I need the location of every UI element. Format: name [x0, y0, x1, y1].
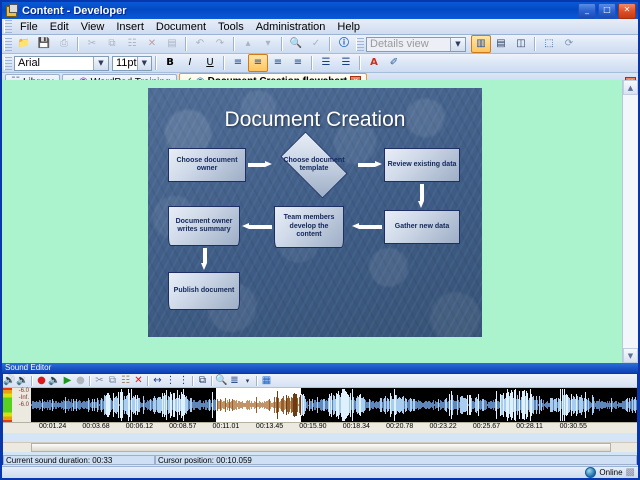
sound-editor-panel: Sound Editor 🔊 🔉 ● 🔈 ▶ ● ✂ ⧉ ☷ ✕ ↔ ⋮ ⋮ — [2, 363, 638, 465]
effects-icon[interactable]: ▦ — [260, 375, 273, 387]
window-title: Content - Developer — [22, 5, 578, 17]
toolbar-separator — [534, 37, 536, 51]
font-color-icon[interactable]: A — [364, 54, 384, 72]
node-label: Choose document owner — [171, 157, 243, 174]
save-icon[interactable]: 💾 — [34, 35, 54, 53]
split-icon[interactable]: ⋮ — [164, 375, 177, 387]
cursor-position-field: Cursor position: 00:10.059 — [155, 455, 637, 465]
marker-icon[interactable]: ⋮ — [177, 375, 190, 387]
italic-button[interactable]: I — [180, 54, 200, 72]
time-tick: 00:28.11 — [516, 423, 543, 430]
menu-insert[interactable]: Insert — [110, 20, 150, 34]
highlight-color-icon[interactable]: ✐ — [384, 54, 404, 72]
node-choose-template[interactable]: Choose document template — [272, 140, 356, 190]
waveform-sample — [636, 400, 637, 410]
align-center-icon[interactable]: ≡ — [248, 54, 268, 72]
vu-meter — [3, 388, 12, 422]
play-icon[interactable]: ▶ — [61, 375, 74, 387]
undo-icon: ↶ — [190, 35, 210, 53]
move-down-icon: ▾ — [258, 35, 278, 53]
toolbar-separator — [185, 37, 187, 51]
sound-editor-toolbar: 🔊 🔉 ● 🔈 ▶ ● ✂ ⧉ ☷ ✕ ↔ ⋮ ⋮ ⧉ 🔍 ≣ — [3, 374, 637, 388]
toolbar-separator — [155, 56, 157, 70]
monitor-icon[interactable]: 🔈 — [48, 375, 61, 387]
time-tick: 00:06.12 — [126, 423, 153, 430]
format-toolbar: Arial ▼ 11pt ▼ B I U ≡ ≡ ≡ ≡ ☰ ☰ A ✐ — [2, 54, 638, 73]
paste-icon: ☷ — [122, 35, 142, 53]
scroll-up-icon[interactable]: ▲ — [623, 80, 638, 95]
zoom-icon[interactable]: 🔍 — [215, 375, 228, 387]
flowchart-slide[interactable]: Document Creation Choose document owner … — [148, 88, 482, 337]
record-icon[interactable]: ● — [35, 375, 48, 387]
chevron-down-icon[interactable]: ▼ — [137, 57, 151, 70]
properties-icon: ▤ — [162, 35, 182, 53]
view-mode-value: Details view — [370, 38, 429, 50]
chevron-down-icon[interactable]: ▼ — [450, 38, 465, 51]
toolbar-separator — [77, 37, 79, 51]
content-area: Document Creation Choose document owner … — [2, 80, 638, 363]
delete-icon[interactable]: ✕ — [132, 375, 145, 387]
arrow-review-to-gather — [418, 184, 425, 208]
node-choose-owner[interactable]: Choose document owner — [168, 148, 246, 182]
node-develop-content[interactable]: Team members develop the content — [274, 206, 344, 248]
application-statusbar: Online ▩ — [2, 466, 638, 478]
vu-label-top: -6.0 — [12, 388, 29, 395]
stop-icon: ● — [74, 375, 87, 387]
paste-icon[interactable]: ☷ — [119, 375, 132, 387]
dropdown-arrow-icon[interactable]: ▾ — [241, 375, 254, 387]
sound-editor-body: 🔊 🔉 ● 🔈 ▶ ● ✂ ⧉ ☷ ✕ ↔ ⋮ ⋮ ⧉ 🔍 ≣ — [3, 374, 637, 464]
main-toolbar-grip[interactable] — [4, 38, 12, 51]
time-tick: 00:15.90 — [299, 423, 326, 430]
open-folder-icon[interactable]: 📁 — [14, 35, 34, 53]
numbered-list-icon[interactable]: ☰ — [336, 54, 356, 72]
replace-sound-icon[interactable]: 🔉 — [16, 375, 29, 387]
arrow-summary-to-publish — [201, 248, 208, 270]
preview-icon[interactable]: ⬚ — [539, 35, 559, 53]
find-icon: 🔍 — [286, 35, 306, 53]
spellcheck-icon: ✓ — [306, 35, 326, 53]
toolbar-separator — [329, 37, 331, 51]
align-justify-icon[interactable]: ≡ — [288, 54, 308, 72]
node-label: Document owner writes summary — [170, 218, 238, 235]
waveform-area[interactable]: -6.0 -Inf. -6.0 00:01.2400:03.6800:06.12… — [3, 388, 637, 428]
view-toolbar-grip[interactable] — [356, 38, 364, 51]
toolbar-separator — [147, 376, 149, 386]
delete-icon: ✕ — [142, 35, 162, 53]
copy-icon[interactable]: ⧉ — [106, 375, 119, 387]
time-tick: 00:08.57 — [169, 423, 196, 430]
node-gather-data[interactable]: Gather new data — [384, 210, 460, 244]
cut-icon[interactable]: ✂ — [93, 375, 106, 387]
waveform-horizontal-scrollbar[interactable] — [3, 442, 637, 452]
arrow-develop-to-summary — [242, 223, 272, 230]
scroll-down-icon[interactable]: ▼ — [623, 348, 638, 363]
toolbar-separator — [256, 376, 258, 386]
maximize-button[interactable]: □ — [598, 3, 616, 19]
time-tick: 00:11.01 — [213, 423, 240, 430]
time-tick: 00:25.67 — [473, 423, 500, 430]
redo-icon: ↷ — [210, 35, 230, 53]
arrow-owner-to-template — [248, 161, 272, 168]
toolbar-separator — [211, 376, 213, 386]
copy-icon: ⧉ — [102, 35, 122, 53]
menu-file[interactable]: File — [14, 20, 44, 34]
view-mode-select[interactable]: Details view ▼ — [366, 37, 466, 52]
menu-view[interactable]: View — [75, 20, 111, 34]
vu-label-mid: -Inf. — [12, 395, 29, 402]
toolbar-separator — [89, 376, 91, 386]
menu-administration[interactable]: Administration — [250, 20, 332, 34]
bullet-list-icon[interactable]: ☰ — [316, 54, 336, 72]
main-toolbar: 📁 💾 ⎙ ✂ ⧉ ☷ ✕ ▤ ↶ ↷ ▴ ▾ 🔍 ✓ ⓘ Details vi… — [2, 35, 638, 54]
node-label: Gather new data — [395, 223, 449, 232]
sound-duration-field: Current sound duration: 00:33 — [3, 455, 155, 465]
move-up-icon: ▴ — [238, 35, 258, 53]
chevron-down-icon[interactable]: ▼ — [93, 57, 108, 70]
time-tick: 00:30.55 — [560, 423, 587, 430]
menu-help[interactable]: Help — [331, 20, 366, 34]
node-publish-document[interactable]: Publish document — [168, 272, 240, 310]
scrollbar-thumb[interactable] — [31, 443, 611, 452]
menu-bar: File Edit View Insert Document Tools Adm… — [2, 19, 638, 35]
single-pane-view-icon[interactable]: ▥ — [471, 35, 491, 53]
node-review-data[interactable]: Review existing data — [384, 148, 460, 182]
sound-editor-title: Sound Editor — [2, 363, 638, 373]
font-size-value: 11pt — [116, 57, 137, 69]
time-tick: 00:20.78 — [386, 423, 413, 430]
select-all-icon[interactable]: ↔ — [151, 375, 164, 387]
toolbar-separator — [311, 56, 313, 70]
refresh-icon[interactable]: ⟳ — [559, 35, 579, 53]
time-ruler[interactable]: 00:01.2400:03.6800:06.1200:08.5700:11.01… — [3, 422, 637, 433]
window-titlebar: Content - Developer _ □ ✕ — [2, 2, 638, 19]
font-name-select[interactable]: Arial ▼ — [14, 56, 109, 71]
arrow-template-to-review — [358, 161, 382, 168]
content-vertical-scrollbar[interactable]: ▲ ▼ — [622, 80, 638, 363]
toolbar-separator — [31, 376, 33, 386]
time-tick: 00:13.45 — [256, 423, 283, 430]
connection-status-label: Online — [599, 468, 622, 477]
horizontal-split-view-icon[interactable]: ▤ — [491, 35, 511, 53]
menu-tools[interactable]: Tools — [212, 20, 250, 34]
time-tick: 00:03.68 — [82, 423, 109, 430]
resize-grip-icon[interactable]: ▩ — [626, 468, 635, 478]
toolbar-separator — [192, 376, 194, 386]
node-label: Review existing data — [388, 161, 457, 170]
app-document-icon — [5, 4, 18, 17]
network-globe-icon — [585, 467, 596, 478]
node-label: Choose document template — [274, 157, 354, 174]
cut-icon: ✂ — [82, 35, 102, 53]
align-right-icon[interactable]: ≡ — [268, 54, 288, 72]
toolbar-separator — [223, 56, 225, 70]
waveform-canvas[interactable] — [31, 388, 637, 422]
menubar-grip[interactable] — [4, 20, 12, 33]
application-window: Content - Developer _ □ ✕ File Edit View… — [0, 0, 640, 480]
node-write-summary[interactable]: Document owner writes summary — [168, 206, 240, 246]
font-name-value: Arial — [18, 57, 40, 69]
window-controls: _ □ ✕ — [578, 3, 636, 19]
help-icon[interactable]: ⓘ — [334, 35, 354, 53]
sound-editor-statusbar: Current sound duration: 00:33 Cursor pos… — [3, 454, 637, 465]
align-left-icon[interactable]: ≡ — [228, 54, 248, 72]
time-tick: 00:23.22 — [429, 423, 456, 430]
bold-button[interactable]: B — [160, 54, 180, 72]
toolbar-separator — [233, 37, 235, 51]
print-icon: ⎙ — [54, 35, 74, 53]
crop-icon[interactable]: ⧉ — [196, 375, 209, 387]
vu-scale: -6.0 -Inf. -6.0 — [12, 388, 30, 422]
minimize-button[interactable]: _ — [578, 3, 596, 19]
playhead-cursor[interactable] — [216, 388, 217, 422]
font-size-select[interactable]: 11pt ▼ — [112, 56, 152, 71]
vu-label-bottom: -6.0 — [12, 402, 29, 409]
arrow-gather-to-develop — [352, 223, 382, 230]
close-button[interactable]: ✕ — [618, 3, 636, 19]
underline-button[interactable]: U — [200, 54, 220, 72]
node-label: Team members develop the content — [276, 214, 342, 240]
menu-document[interactable]: Document — [150, 20, 212, 34]
format-toolbar-grip[interactable] — [4, 57, 12, 70]
toolbar-separator — [359, 56, 361, 70]
toolbar-separator — [281, 37, 283, 51]
node-label: Publish document — [174, 287, 235, 296]
insert-sound-icon[interactable]: 🔊 — [3, 375, 16, 387]
slide-title: Document Creation — [148, 108, 482, 132]
levels-icon[interactable]: ≣ — [228, 375, 241, 387]
time-tick: 00:18.34 — [343, 423, 370, 430]
time-tick: 00:01.24 — [39, 423, 66, 430]
menu-edit[interactable]: Edit — [44, 20, 75, 34]
vertical-split-view-icon[interactable]: ◫ — [511, 35, 531, 53]
